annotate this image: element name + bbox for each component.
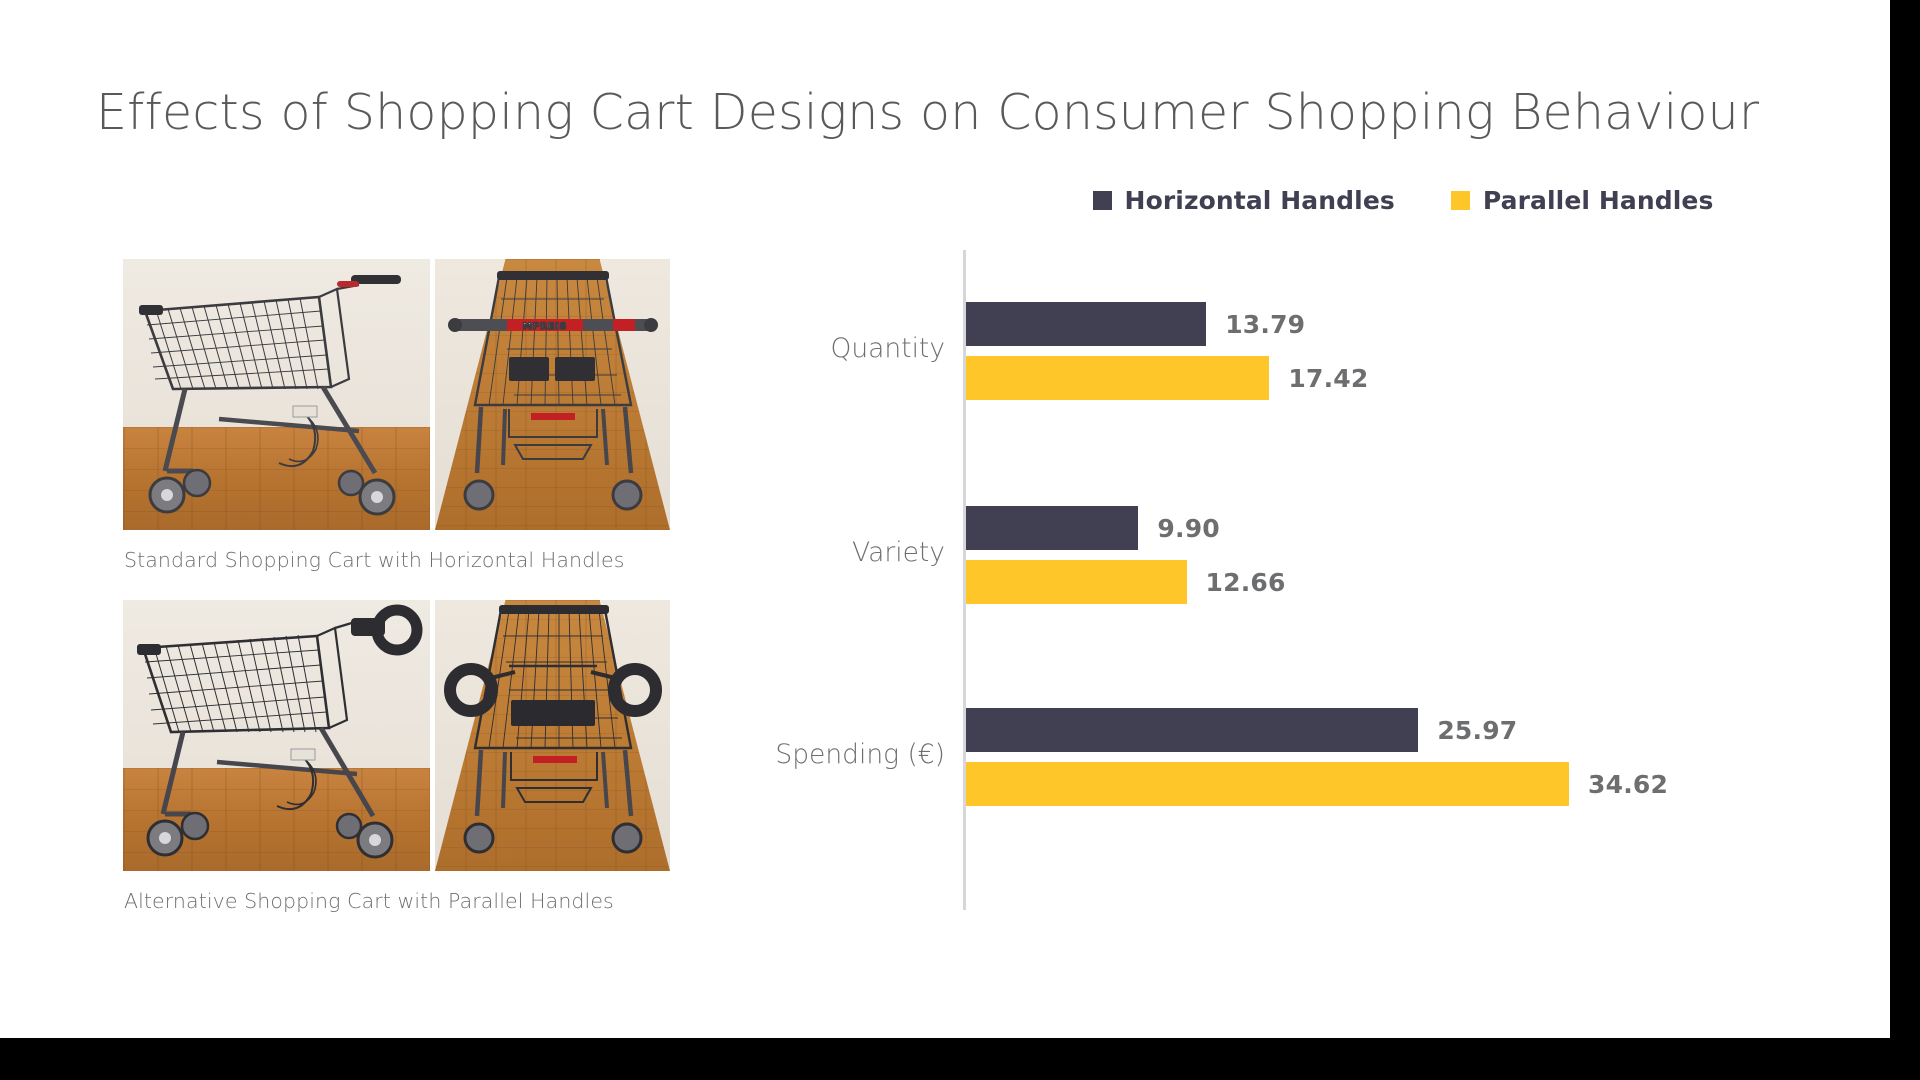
legend-label-parallel: Parallel Handles [1483, 186, 1714, 215]
bar-row[interactable]: 9.90 [966, 506, 1220, 550]
category-group: Variety9.9012.66 [963, 506, 1843, 604]
bar-value-label: 9.90 [1157, 514, 1219, 543]
bar[interactable] [966, 302, 1206, 346]
standard-cart-rear-view: MPREIS [435, 259, 670, 530]
bar-row[interactable]: 25.97 [966, 708, 1517, 752]
standard-cart-side-view [123, 259, 430, 530]
alternative-cart-side-view [123, 600, 430, 871]
bar-value-label: 25.97 [1437, 716, 1517, 745]
legend-swatch-icon-parallel [1451, 191, 1470, 210]
bar-value-label: 17.42 [1288, 364, 1368, 393]
bar-value-label: 34.62 [1588, 770, 1668, 799]
figure-panel: MPREIS [123, 259, 670, 941]
figure-caption-alternative: Alternative Shopping Cart with Parallel … [124, 889, 670, 913]
bar-row[interactable]: 34.62 [966, 762, 1668, 806]
chart-legend: Horizontal Handles Parallel Handles [963, 186, 1843, 215]
bar-value-label: 12.66 [1206, 568, 1286, 597]
bar[interactable] [966, 762, 1569, 806]
category-group: Quantity13.7917.42 [963, 302, 1843, 400]
bar[interactable] [966, 506, 1138, 550]
legend-item-horizontal-handles[interactable]: Horizontal Handles [1093, 186, 1395, 215]
standard-cart-rear-illustration: MPREIS [435, 259, 670, 530]
bar[interactable] [966, 356, 1269, 400]
bar-row[interactable]: 13.79 [966, 302, 1305, 346]
bar[interactable] [966, 560, 1187, 604]
alternative-cart-rear-illustration [435, 600, 670, 871]
standard-cart-side-illustration [123, 259, 430, 530]
bar-value-label: 13.79 [1225, 310, 1305, 339]
svg-text:MPREIS: MPREIS [523, 322, 567, 332]
category-label: Variety [852, 537, 945, 568]
presentation-slide: Effects of Shopping Cart Designs on Cons… [0, 0, 1890, 1038]
category-group: Spending (€)25.9734.62 [963, 708, 1843, 806]
slide-title: Effects of Shopping Cart Designs on Cons… [96, 84, 1759, 141]
slide-frame: Effects of Shopping Cart Designs on Cons… [0, 0, 1920, 1080]
figure-row-alternative-cart [123, 600, 670, 871]
category-label: Quantity [830, 333, 945, 364]
bar-row[interactable]: 17.42 [966, 356, 1368, 400]
figure-caption-standard: Standard Shopping Cart with Horizontal H… [124, 548, 670, 572]
alternative-cart-rear-view [435, 600, 670, 871]
bar-row[interactable]: 12.66 [966, 560, 1286, 604]
legend-swatch-icon-horizontal [1093, 191, 1112, 210]
chart-plot-area: Quantity13.7917.42Variety9.9012.66Spendi… [963, 250, 1843, 910]
bar[interactable] [966, 708, 1418, 752]
legend-item-parallel-handles[interactable]: Parallel Handles [1451, 186, 1714, 215]
legend-label-horizontal: Horizontal Handles [1125, 186, 1395, 215]
category-label: Spending (€) [775, 739, 945, 770]
figure-row-standard-cart: MPREIS [123, 259, 670, 530]
bar-chart: Horizontal Handles Parallel Handles Quan… [963, 186, 1843, 926]
alternative-cart-side-illustration [123, 600, 430, 871]
